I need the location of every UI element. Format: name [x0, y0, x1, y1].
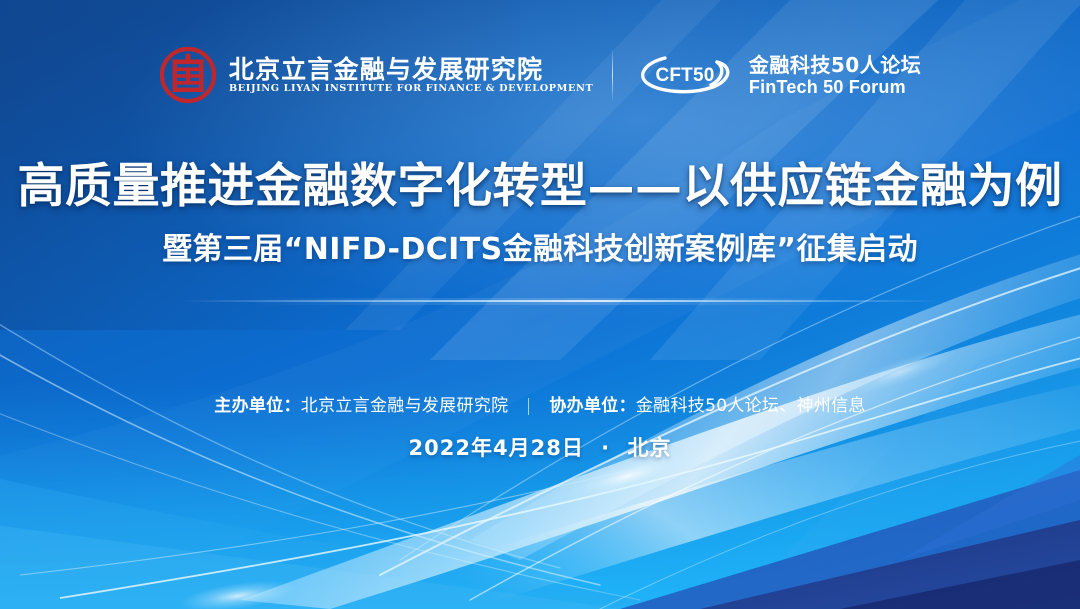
svg-text:CFT50: CFT50	[655, 65, 714, 86]
coorganizer-value: 金融科技50人论坛、神州信息	[636, 398, 866, 415]
forum-name-en: FinTech 50 Forum	[749, 78, 921, 96]
cft50-orbit-icon: CFT50	[639, 52, 735, 98]
date-city-dot: ·	[601, 436, 610, 460]
forum-text: 金融科技50人论坛 FinTech 50 Forum	[749, 55, 921, 96]
host-value: 北京立言金融与发展研究院	[301, 398, 509, 415]
institute-text: 北京立言金融与发展研究院 BEIJING LIYAN INSTITUTE FOR…	[229, 57, 586, 94]
main-title: 高质量推进金融数字化转型——以供应链金融为例	[0, 160, 1080, 214]
organizer-block: 主办单位： 北京立言金融与发展研究院 协办单位： 金融科技50人论坛、神州信息 …	[0, 398, 1080, 459]
event-date-line: 2022年4月28日 · 北京	[0, 438, 1080, 459]
liyan-seal-icon	[159, 46, 217, 104]
institute-name-cn: 北京立言金融与发展研究院	[229, 57, 586, 82]
logo-divider	[612, 49, 613, 101]
event-banner: 北京立言金融与发展研究院 BEIJING LIYAN INSTITUTE FOR…	[0, 0, 1080, 609]
event-date: 2022年4月28日	[409, 436, 584, 460]
host-label: 主办单位：	[214, 398, 301, 415]
institute-name-en: BEIJING LIYAN INSTITUTE FOR FINANCE & DE…	[229, 84, 593, 94]
title-block: 高质量推进金融数字化转型——以供应链金融为例 暨第三届“NIFD-DCITS金融…	[0, 160, 1080, 268]
logo-bar: 北京立言金融与发展研究院 BEIJING LIYAN INSTITUTE FOR…	[0, 46, 1080, 104]
coorganizer-label: 协办单位：	[549, 398, 636, 415]
forum-name-cn: 金融科技50人论坛	[749, 55, 921, 75]
sub-title: 暨第三届“NIFD-DCITS金融科技创新案例库”征集启动	[0, 232, 1080, 268]
organizer-separator	[528, 398, 529, 415]
institute-logo: 北京立言金融与发展研究院 BEIJING LIYAN INSTITUTE FOR…	[159, 46, 586, 104]
forum-logo: CFT50 金融科技50人论坛 FinTech 50 Forum	[639, 52, 921, 98]
organizer-line: 主办单位： 北京立言金融与发展研究院 协办单位： 金融科技50人论坛、神州信息	[214, 398, 865, 415]
event-city: 北京	[627, 436, 671, 460]
